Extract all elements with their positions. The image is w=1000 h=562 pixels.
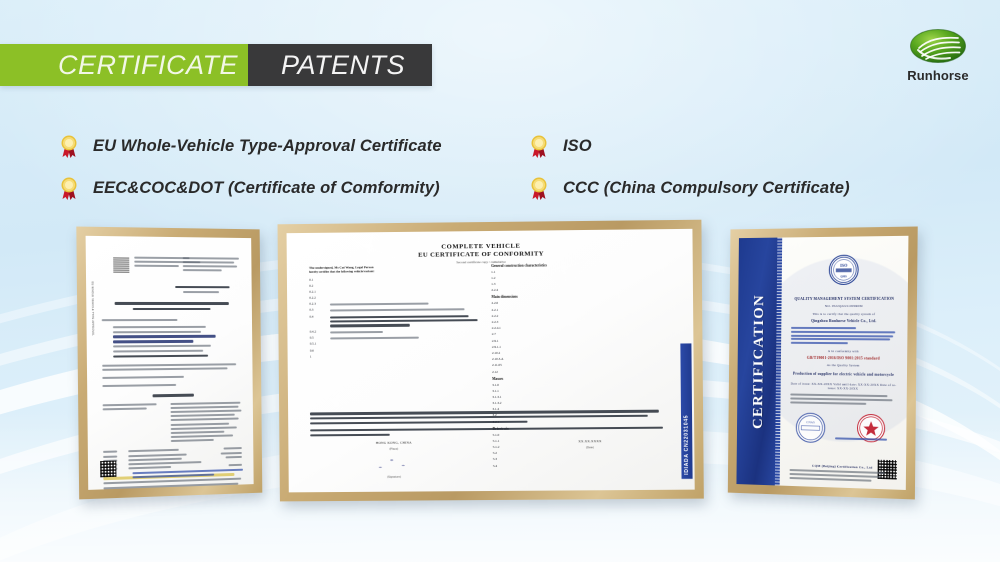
authority-emblem-icon — [113, 256, 129, 272]
certificate-image-eu-conformity[interactable]: COMPLETE VEHICLE EU CERTIFICATE OF CONFO… — [278, 220, 704, 502]
certificate-footer: HONG KONG, CHINA (Place) (Signature) XX.… — [310, 410, 674, 479]
row-number: 1.3 — [491, 282, 507, 286]
row-number: 0.2.2 — [309, 296, 325, 300]
signature-place: HONG KONG, CHINA (Place) (Signature) — [311, 440, 478, 479]
certificate-row: 0.2 — [309, 282, 483, 288]
brand-logo-text: Runhorse — [890, 68, 986, 83]
list-item: EU Whole-Vehicle Type-Approval Certifica… — [58, 129, 528, 163]
certificate-title: QUALITY MANAGEMENT SYSTEM CERTIFICATION — [791, 297, 897, 301]
conformity-label: is in conformity with — [791, 349, 897, 354]
row-number: 2.2.1 — [492, 307, 508, 311]
row-number: 0.1 — [309, 277, 325, 281]
row-number: 0.3 — [309, 308, 325, 312]
certificate-row: 0.4.2 — [310, 328, 484, 334]
certificate-row: 0.2.1 — [309, 288, 483, 294]
certificate-company: Qingzhou Runhorse Vehicle Co., Ltd. — [791, 319, 897, 323]
svg-text:ISO: ISO — [841, 262, 848, 267]
handwritten-signature — [371, 455, 417, 473]
certificate-body — [101, 272, 242, 475]
row-number: 0.5.1 — [310, 342, 326, 346]
list-item-label: CCC (China Compulsory Certificate) — [563, 179, 850, 198]
row-number: 2.9.1 — [492, 338, 508, 342]
row-number: 1.1 — [491, 270, 507, 274]
certificate-scope: Production of supplier for electric vehi… — [790, 372, 896, 377]
certificate-row: 0.2.2 — [309, 294, 483, 300]
certificate-address-block — [791, 327, 897, 345]
certificate-statement: This is to certify that the quality syst… — [791, 312, 897, 316]
certificate-frame: EU WHOLE VEHICLE TYPE APPROVAL — [76, 227, 262, 500]
certificate-row: 0.5 — [310, 334, 484, 340]
certificate-row: 0.2.3 — [309, 300, 483, 306]
section-tab-bar: CERTIFICATE PATENTS — [0, 44, 432, 86]
round-stamp-icon: CNAS — [797, 414, 825, 443]
certificate-band-text: CERTIFICATION — [750, 294, 768, 429]
signature-caption: (Signature) — [311, 474, 478, 479]
certificate-content: ISO QMS QUALITY MANAGEMENT SYSTEM CERTIF… — [779, 236, 908, 490]
date-caption: (Date) — [506, 445, 674, 450]
iso-emblem-icon: ISO QMS — [830, 254, 858, 284]
list-item-label: ISO — [563, 137, 592, 156]
certification-body-round-stamp-icon: CNAS — [796, 412, 826, 443]
certificate-row: 0.6 — [310, 347, 484, 353]
row-number: 0.2.1 — [309, 289, 325, 293]
certificate-side-text: IDIADA CN22031045 — [680, 344, 692, 480]
certificate-frame: CERTIFICATION ISO QMS QUAL — [728, 226, 918, 499]
row-number: 2.7 — [492, 332, 508, 336]
certificate-signature-block: HONG KONG, CHINA (Place) (Signature) XX.… — [311, 439, 675, 480]
certificate-frame: COMPLETE VEHICLE EU CERTIFICATE OF CONFO… — [278, 220, 704, 502]
certificate-qr-code — [100, 460, 116, 477]
list-item: CCC (China Compulsory Certificate) — [528, 171, 938, 205]
section-heading: Masses — [492, 375, 675, 381]
row-number: 2.9.1.1 — [492, 345, 508, 349]
list-item: EEC&COC&DOT (Certificate of Comformity) — [58, 171, 528, 205]
certificate-footer: CQM (Beijing) Certification Co., Ltd — [789, 463, 895, 482]
list-item: ISO — [528, 129, 938, 163]
date-label: XX.XX.XXXX — [506, 439, 674, 444]
tab-certificate[interactable]: CERTIFICATE — [0, 44, 248, 86]
certificate-side-text: EU WHOLE VEHICLE TYPE APPROVAL — [89, 282, 96, 470]
row-number: 0.6 — [310, 348, 326, 352]
row-number: 2.12 — [492, 369, 508, 373]
certificate-image-eu-type-approval[interactable]: EU WHOLE VEHICLE TYPE APPROVAL — [76, 227, 262, 500]
row-number: 0.4.2 — [310, 330, 326, 334]
row-number: 0.2.3 — [309, 302, 325, 306]
scope-label: As the Quality System — [790, 363, 896, 368]
row-number: 1 — [310, 354, 326, 358]
tab-patents-label: PATENTS — [281, 50, 405, 81]
certificate-row: 0.4 — [309, 313, 483, 328]
row-number: 0.5 — [310, 336, 326, 340]
certificate-image-iso[interactable]: CERTIFICATION ISO QMS QUAL — [728, 226, 918, 499]
row-number: 2.2.3 — [492, 320, 508, 324]
gold-medal-icon — [528, 134, 550, 159]
certificate-page: COMPLETE VEHICLE EU CERTIFICATE OF CONFO… — [287, 229, 695, 493]
list-item-label: EU Whole-Vehicle Type-Approval Certifica… — [93, 137, 442, 156]
brand-logo: Runhorse — [890, 27, 986, 83]
certificate-left-column: The undersigned, Ms Cui Wang, Legal Pers… — [309, 264, 484, 361]
runhorse-oval-mane-icon — [908, 27, 968, 67]
row-number: 0.2 — [309, 283, 325, 287]
gold-medal-icon — [528, 176, 550, 201]
row-number: 3.1.3.1 — [492, 395, 508, 399]
row-number: 2.2.4.1 — [492, 326, 508, 330]
certificate-row: 0.3 — [309, 306, 483, 312]
certificate-stamps: CNAS — [790, 412, 897, 449]
row-number: 2.2.4 — [491, 288, 507, 292]
list-item-label: EEC&COC&DOT (Certificate of Comformity) — [93, 179, 440, 198]
row-number: 2.10.2 — [492, 351, 508, 355]
row-number: 3.1.1 — [492, 389, 508, 393]
certificate-row: 1 — [310, 353, 484, 359]
row-number: 0.4 — [309, 314, 325, 318]
certificate-page: EU WHOLE VEHICLE TYPE APPROVAL — [86, 236, 254, 490]
certificate-list: EU Whole-Vehicle Type-Approval Certifica… — [58, 129, 938, 205]
row-number: 2.2.2 — [492, 314, 508, 318]
certificate-row: 0.5.1 — [310, 340, 484, 346]
certificate-header-right — [183, 257, 239, 271]
tab-patents[interactable]: PATENTS — [248, 44, 432, 86]
tab-certificate-label: CERTIFICATE — [58, 50, 238, 81]
iso-seal-icon: ISO QMS — [829, 254, 859, 284]
row-number: 2.11.05 — [492, 363, 508, 367]
signature-date: XX.XX.XXXX (Date) — [506, 439, 674, 478]
row-number: 2.2.0 — [491, 301, 507, 305]
section-heading: Main dimensions — [491, 294, 674, 300]
certificate-page: CERTIFICATION ISO QMS QUAL — [736, 236, 908, 490]
certificate-gallery: EU WHOLE VEHICLE TYPE APPROVAL — [0, 222, 1000, 512]
row-number: 2.10.3.A — [492, 357, 508, 361]
gold-medal-icon — [58, 176, 80, 201]
certificate-validity: Date of issue: XX-XX-20XX Valid until da… — [790, 382, 896, 392]
certificate-standard: GB/T19001-2016/ISO 9001:2015 standard — [791, 356, 897, 361]
certificate-row: 0.1 — [309, 276, 483, 282]
svg-text:QMS: QMS — [841, 275, 848, 278]
row-number: 3.1.0 — [492, 382, 508, 386]
certificate-number: NO. 0522Q22211009R0M — [791, 304, 897, 308]
place-caption: (Place) — [311, 446, 478, 451]
place-label: HONG KONG, CHINA — [311, 440, 478, 445]
certificate-body: QUALITY MANAGEMENT SYSTEM CERTIFICATION … — [790, 297, 897, 405]
row-number: 1.2 — [491, 276, 507, 280]
certificate-note — [790, 394, 896, 406]
certificate-side-band: CERTIFICATION — [736, 238, 781, 486]
row-number: 3.1.3.2 — [492, 401, 508, 405]
section-heading: General construction characteristics — [491, 262, 674, 268]
gold-medal-icon — [58, 134, 80, 159]
svg-text:CNAS: CNAS — [807, 420, 816, 424]
